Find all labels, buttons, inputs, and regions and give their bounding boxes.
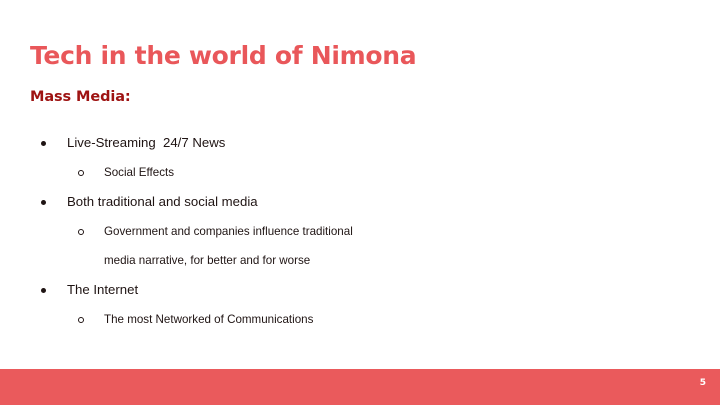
list-item: Both traditional and social media xyxy=(0,187,690,217)
bullet-hollow-icon xyxy=(78,170,84,176)
list-item-label: The most Networked of Communications xyxy=(104,305,690,334)
bullet-filled-icon xyxy=(41,200,46,205)
slide-section-heading: Mass Media: xyxy=(30,89,131,105)
list-item: The most Networked of Communications xyxy=(0,305,690,334)
bullet-filled-icon xyxy=(41,141,46,146)
list-item-label: Social Effects xyxy=(104,158,690,187)
list-item-label: The Internet xyxy=(67,275,690,305)
bullet-hollow-icon xyxy=(78,229,84,235)
presentation-slide: Tech in the world of Nimona Mass Media: … xyxy=(0,0,720,405)
list-item-label: Government and companies influence tradi… xyxy=(104,217,690,275)
bullet-hollow-icon xyxy=(78,317,84,323)
bullet-filled-icon xyxy=(41,288,46,293)
footer-bar: 5 xyxy=(0,369,720,405)
list-item: Social Effects xyxy=(0,158,690,187)
list-item-label: Both traditional and social media xyxy=(67,187,690,217)
page-title: Tech in the world of Nimona xyxy=(30,41,416,70)
page-number: 5 xyxy=(700,378,706,388)
list-item: Government and companies influence tradi… xyxy=(0,217,690,275)
list-item-label: Live-Streaming 24/7 News xyxy=(67,128,690,158)
list-item: Live-Streaming 24/7 News xyxy=(0,128,690,158)
bullet-list: Live-Streaming 24/7 News Social Effects … xyxy=(0,128,690,334)
list-item: The Internet xyxy=(0,275,690,305)
